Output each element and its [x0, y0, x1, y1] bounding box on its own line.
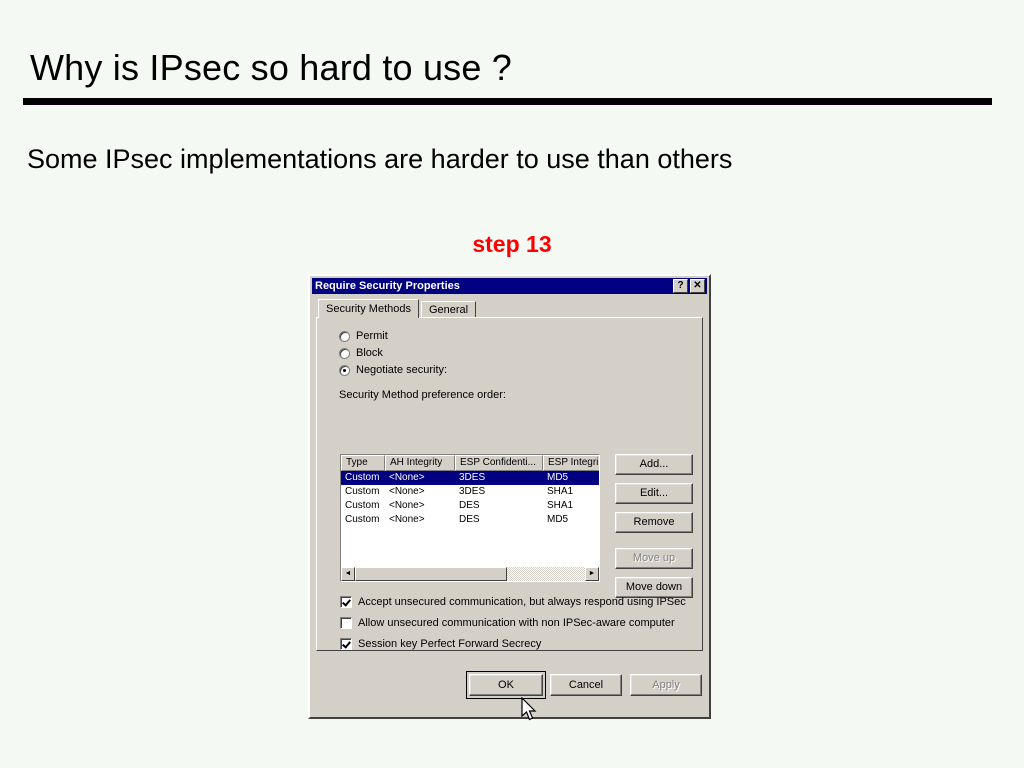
- column-header-ah-integrity[interactable]: AH Integrity: [385, 455, 455, 471]
- column-header-type[interactable]: Type: [341, 455, 385, 471]
- checkbox-accept-unsecured-label: Accept unsecured communication, but alwa…: [358, 596, 686, 608]
- apply-button[interactable]: Apply: [630, 674, 702, 696]
- list-label: Security Method preference order:: [339, 389, 506, 401]
- radio-permit-indicator: [339, 331, 350, 342]
- help-icon[interactable]: ?: [673, 279, 688, 293]
- cell-esp-confidentiality: 3DES: [455, 485, 543, 499]
- slide-subtitle: Some IPsec implementations are harder to…: [27, 144, 732, 175]
- table-row[interactable]: Custom <None> DES MD5: [341, 513, 599, 527]
- step-annotation: step 13: [0, 231, 1024, 258]
- column-header-esp-confidentiality[interactable]: ESP Confidenti...: [455, 455, 543, 471]
- checkbox-accept-unsecured-indicator: [340, 596, 352, 608]
- table-row[interactable]: Custom <None> 3DES SHA1: [341, 485, 599, 499]
- radio-block[interactable]: Block: [339, 347, 383, 359]
- page-title: Why is IPsec so hard to use ?: [30, 47, 512, 89]
- cell-esp-confidentiality: 3DES: [455, 471, 543, 485]
- tab-security-methods[interactable]: Security Methods: [318, 299, 419, 318]
- horizontal-scrollbar[interactable]: ◄ ►: [341, 567, 599, 581]
- cell-type: Custom: [341, 471, 385, 485]
- tabstrip: Security Methods General: [318, 300, 476, 318]
- cell-type: Custom: [341, 485, 385, 499]
- radio-negotiate-security[interactable]: Negotiate security:: [339, 364, 447, 376]
- remove-button[interactable]: Remove: [615, 512, 693, 533]
- cell-type: Custom: [341, 513, 385, 527]
- dialog-title: Require Security Properties: [315, 278, 671, 294]
- listview-body: Custom <None> 3DES MD5 Custom <None> 3DE…: [341, 471, 599, 567]
- listview-header: Type AH Integrity ESP Confidenti... ESP …: [341, 455, 599, 471]
- cell-ah-integrity: <None>: [385, 485, 455, 499]
- move-down-button[interactable]: Move down: [615, 577, 693, 598]
- table-row[interactable]: Custom <None> DES SHA1: [341, 499, 599, 513]
- security-method-listview[interactable]: Type AH Integrity ESP Confidenti... ESP …: [340, 454, 600, 582]
- checkbox-session-key-pfs-label: Session key Perfect Forward Secrecy: [358, 638, 541, 650]
- radio-permit[interactable]: Permit: [339, 330, 388, 342]
- tab-general[interactable]: General: [421, 301, 476, 318]
- radio-block-label: Block: [356, 347, 383, 359]
- scrollbar-track[interactable]: [355, 567, 585, 581]
- cell-esp-integrity: MD5: [543, 513, 599, 527]
- close-icon[interactable]: ✕: [690, 279, 705, 293]
- checkbox-allow-unsecured[interactable]: Allow unsecured communication with non I…: [340, 617, 675, 629]
- scroll-right-icon[interactable]: ►: [585, 567, 599, 581]
- checkbox-allow-unsecured-indicator: [340, 617, 352, 629]
- radio-negotiate-security-indicator: [339, 365, 350, 376]
- checkbox-session-key-pfs-indicator: [340, 638, 352, 650]
- radio-permit-label: Permit: [356, 330, 388, 342]
- cell-ah-integrity: <None>: [385, 471, 455, 485]
- cancel-button[interactable]: Cancel: [550, 674, 622, 696]
- cell-esp-integrity: SHA1: [543, 499, 599, 513]
- edit-button[interactable]: Edit...: [615, 483, 693, 504]
- cell-ah-integrity: <None>: [385, 513, 455, 527]
- add-button[interactable]: Add...: [615, 454, 693, 475]
- checkbox-accept-unsecured[interactable]: Accept unsecured communication, but alwa…: [340, 596, 686, 608]
- ok-button[interactable]: OK: [469, 674, 543, 696]
- cell-esp-confidentiality: DES: [455, 499, 543, 513]
- checkbox-session-key-pfs[interactable]: Session key Perfect Forward Secrecy: [340, 638, 541, 650]
- cell-esp-integrity: MD5: [543, 471, 599, 485]
- scrollbar-thumb[interactable]: [355, 567, 507, 581]
- move-up-button[interactable]: Move up: [615, 548, 693, 569]
- title-divider: [23, 98, 992, 105]
- cell-esp-integrity: SHA1: [543, 485, 599, 499]
- column-header-esp-integrity[interactable]: ESP Integri: [543, 455, 600, 471]
- require-security-properties-dialog: Require Security Properties ? ✕ Security…: [308, 274, 711, 719]
- table-row[interactable]: Custom <None> 3DES MD5: [341, 471, 599, 485]
- radio-negotiate-security-label: Negotiate security:: [356, 364, 447, 376]
- cell-ah-integrity: <None>: [385, 499, 455, 513]
- dialog-titlebar[interactable]: Require Security Properties ? ✕: [312, 278, 707, 294]
- cell-esp-confidentiality: DES: [455, 513, 543, 527]
- tab-page-security-methods: Permit Block Negotiate security: Securit…: [316, 317, 703, 651]
- scroll-left-icon[interactable]: ◄: [341, 567, 355, 581]
- radio-block-indicator: [339, 348, 350, 359]
- ok-button-default-frame: OK: [466, 671, 546, 699]
- cell-type: Custom: [341, 499, 385, 513]
- checkbox-allow-unsecured-label: Allow unsecured communication with non I…: [358, 617, 675, 629]
